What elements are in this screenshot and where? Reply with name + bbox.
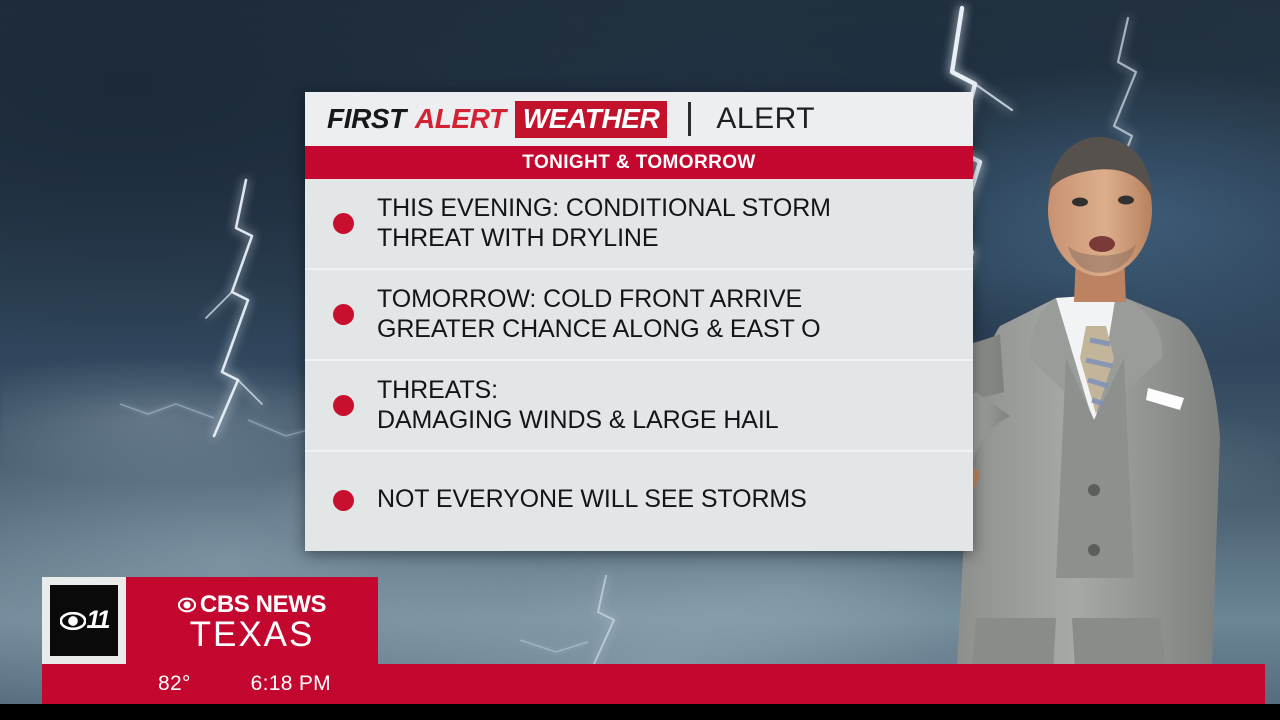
broadcast-frame: FIRST ALERT WEATHER ALERT TONIGHT & TOMO… [0, 0, 1280, 720]
subheader-label: TONIGHT & TOMORROW [522, 152, 755, 174]
panel-header: FIRST ALERT WEATHER ALERT [305, 92, 973, 146]
channel-mark-inner: 11 [50, 585, 118, 656]
bug-wordmark: CBS NEWS TEXAS [126, 577, 378, 664]
bullet-list: THIS EVENING: CONDITIONAL STORM THREAT W… [305, 179, 973, 548]
list-item: TOMORROW: COLD FRONT ARRIVE GREATER CHAN… [305, 270, 973, 361]
bullet-text: THIS EVENING: CONDITIONAL STORM THREAT W… [377, 194, 831, 253]
channel-number: 11 [87, 606, 109, 635]
info-ticker: 82° 6:18 PM [42, 664, 1265, 704]
bug-region-label: TEXAS [190, 617, 315, 652]
bullet-text: NOT EVERYONE WILL SEE STORMS [377, 485, 807, 515]
brand-first: FIRST [327, 103, 406, 135]
bullet-dot-icon [333, 395, 354, 416]
bullet-dot-icon [333, 213, 354, 234]
weather-graphic-panel: FIRST ALERT WEATHER ALERT TONIGHT & TOMO… [305, 92, 973, 551]
list-item: NOT EVERYONE WILL SEE STORMS [305, 452, 973, 548]
bullet-dot-icon [333, 490, 354, 511]
bullet-text: THREATS: DAMAGING WINDS & LARGE HAIL [377, 376, 779, 435]
letterbox-bar [0, 704, 1280, 720]
brand-alert: ALERT [415, 103, 506, 135]
alert-mode-label: ALERT [716, 102, 815, 136]
cbs-eye-icon [60, 612, 86, 630]
header-divider [688, 102, 691, 136]
first-alert-weather-logo: FIRST ALERT WEATHER [327, 101, 667, 138]
ticker-clock: 6:18 PM [251, 672, 331, 696]
bullet-dot-icon [333, 304, 354, 325]
station-bug: 11 CBS NEWS TEXAS [42, 577, 378, 664]
panel-subheader: TONIGHT & TOMORROW [305, 146, 973, 179]
list-item: THIS EVENING: CONDITIONAL STORM THREAT W… [305, 179, 973, 270]
list-item: THREATS: DAMAGING WINDS & LARGE HAIL [305, 361, 973, 452]
brand-weather: WEATHER [515, 101, 668, 138]
ticker-temperature: 82° [158, 672, 191, 696]
channel-mark: 11 [42, 577, 126, 664]
bullet-text: TOMORROW: COLD FRONT ARRIVE GREATER CHAN… [377, 285, 821, 344]
cbs-eye-icon [178, 596, 196, 614]
